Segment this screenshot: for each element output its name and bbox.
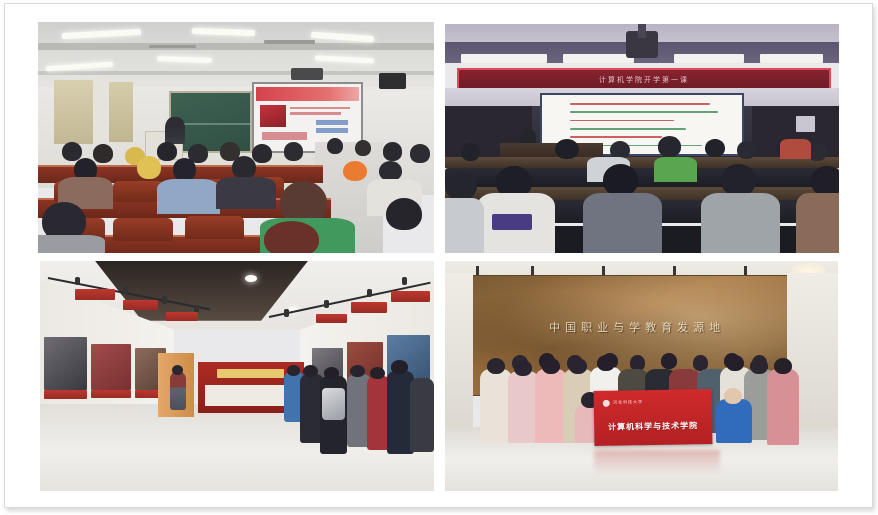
squatting-student <box>716 399 751 443</box>
spotlight-icon <box>123 286 128 294</box>
student-head <box>542 358 560 374</box>
front-attendee-body <box>796 193 839 253</box>
attendee-head <box>555 139 579 160</box>
student-head <box>173 158 197 181</box>
student-head <box>661 353 677 369</box>
pillar-left <box>93 77 109 146</box>
event-banner-text: 计算机学院开学第一课 <box>599 75 689 85</box>
slide-line-2 <box>570 111 719 113</box>
spotlight-icon <box>367 289 372 297</box>
floor-reflection <box>594 450 720 475</box>
student-head <box>569 358 587 374</box>
spotlight-icon <box>284 309 289 317</box>
logo-mark-icon <box>603 399 610 406</box>
attendee-head <box>737 141 757 159</box>
spotlight-icon <box>324 300 329 308</box>
slide-line-4 <box>570 128 687 130</box>
college-banner-text: 计算机科学与技术学院 <box>599 414 708 438</box>
student-head <box>487 358 505 374</box>
ceiling-beam-2 <box>38 71 434 76</box>
window-left <box>54 80 94 145</box>
slide-callout-2 <box>316 128 348 133</box>
slide-diagram <box>262 132 307 140</box>
photo-collage: 计算机学院开学第一课 <box>0 0 878 515</box>
spotlight-icon <box>402 277 407 285</box>
attendee-head <box>658 136 682 157</box>
photo-lecture-hall[interactable] <box>38 22 434 253</box>
attendee-head <box>705 139 725 157</box>
attendee-body-green <box>654 157 697 182</box>
front-attendee-head <box>811 166 839 196</box>
photo-exhibition-corridor[interactable] <box>40 261 434 491</box>
front-attendee-body <box>701 193 780 253</box>
wall-speaker-icon <box>379 73 407 89</box>
photo-group-portrait[interactable]: 中国职业与学教育发源地 <box>445 261 838 491</box>
spotlight-icon <box>75 277 80 285</box>
student-body <box>157 179 220 214</box>
ceiling-fan-1 <box>149 45 197 48</box>
display-panel-header <box>75 289 114 301</box>
display-panel-header <box>166 312 198 321</box>
display-photo <box>44 337 87 390</box>
page-root: 计算机学院开学第一课 <box>0 0 878 515</box>
slide-portrait-image <box>260 105 286 126</box>
display-panel-header <box>123 300 158 310</box>
student-head <box>287 365 300 377</box>
slide-line-1 <box>570 103 711 105</box>
student-body <box>216 177 275 209</box>
front-attendee-head <box>445 171 477 201</box>
student-head <box>327 138 343 154</box>
left-wall <box>445 273 473 434</box>
display-panel-header <box>391 291 430 303</box>
display-panel-caption <box>91 390 130 398</box>
slide-line-5 <box>570 136 662 138</box>
ceiling-light-1 <box>461 54 548 63</box>
visitor-head <box>172 365 183 375</box>
visitor <box>170 371 186 410</box>
projector <box>291 68 323 80</box>
student-head <box>93 144 113 162</box>
slide-text-line-2 <box>290 112 341 115</box>
student-head <box>410 144 430 162</box>
squatting-student-head <box>724 388 742 404</box>
front-attendee-head <box>721 164 756 196</box>
relief-wall-text: 中国职业与学教育发源地 <box>521 316 753 338</box>
student-head <box>252 144 272 162</box>
college-banner[interactable]: 河北科技大学 计算机科学与技术学院 <box>594 389 713 446</box>
ceiling-downlight <box>245 275 257 282</box>
window-left-2 <box>109 82 133 142</box>
photo-auditorium[interactable]: 计算机学院开学第一课 <box>445 24 839 253</box>
lecture-hall-scene <box>38 22 434 253</box>
group-portrait-scene: 中国职业与学教育发源地 <box>445 261 838 491</box>
front-attendee-body <box>583 193 662 253</box>
student-head <box>157 142 177 160</box>
student-head <box>303 365 318 378</box>
foreground-body-3 <box>38 235 105 253</box>
ceiling-light-3 <box>674 54 745 63</box>
attendee-head <box>461 143 481 161</box>
slide-text-line-1 <box>290 107 350 110</box>
lecturer <box>165 117 185 145</box>
front-attendee-head <box>603 164 638 196</box>
display-panel-caption <box>44 390 87 399</box>
ceiling-light-2 <box>563 54 634 63</box>
projector-mount <box>638 24 646 38</box>
university-logo: 河北科技大学 <box>603 395 657 409</box>
student-head <box>750 358 768 374</box>
student-head <box>383 142 403 160</box>
jacket-tag <box>492 214 531 230</box>
ceiling-fan-2 <box>264 40 315 43</box>
student-head <box>355 140 371 156</box>
exhibition-corridor-scene <box>40 261 434 491</box>
student-head <box>232 156 256 179</box>
student-head <box>597 355 615 371</box>
student-head <box>284 142 304 160</box>
front-attendee-body <box>445 198 484 253</box>
slide-header-bar <box>256 87 359 102</box>
display-panel-header <box>351 302 386 312</box>
foreground-head-2 <box>264 221 319 253</box>
university-name: 河北科技大学 <box>613 399 643 406</box>
attendee-body-red <box>780 139 812 160</box>
display-photo <box>91 344 130 390</box>
display-panel-header <box>316 314 348 323</box>
chair-6 <box>113 218 172 241</box>
student-head <box>137 156 161 179</box>
slide-line-3 <box>570 120 674 122</box>
student <box>410 378 434 452</box>
student-head <box>62 142 82 160</box>
student <box>767 369 798 445</box>
student-head <box>391 360 408 374</box>
wall-sign <box>796 116 816 132</box>
ceiling-beam-1 <box>38 43 434 50</box>
student-head <box>774 358 792 374</box>
auditorium-scene: 计算机学院开学第一课 <box>445 24 839 253</box>
slide-callout-1 <box>316 120 348 125</box>
student-head <box>343 161 367 182</box>
end-wall-banner <box>217 369 284 378</box>
chair-7 <box>185 216 244 239</box>
spotlight-icon <box>162 296 167 304</box>
foreground-head-4 <box>386 198 422 230</box>
ceiling-light-4 <box>760 54 823 63</box>
backpack <box>322 388 346 420</box>
student-head <box>514 360 532 376</box>
